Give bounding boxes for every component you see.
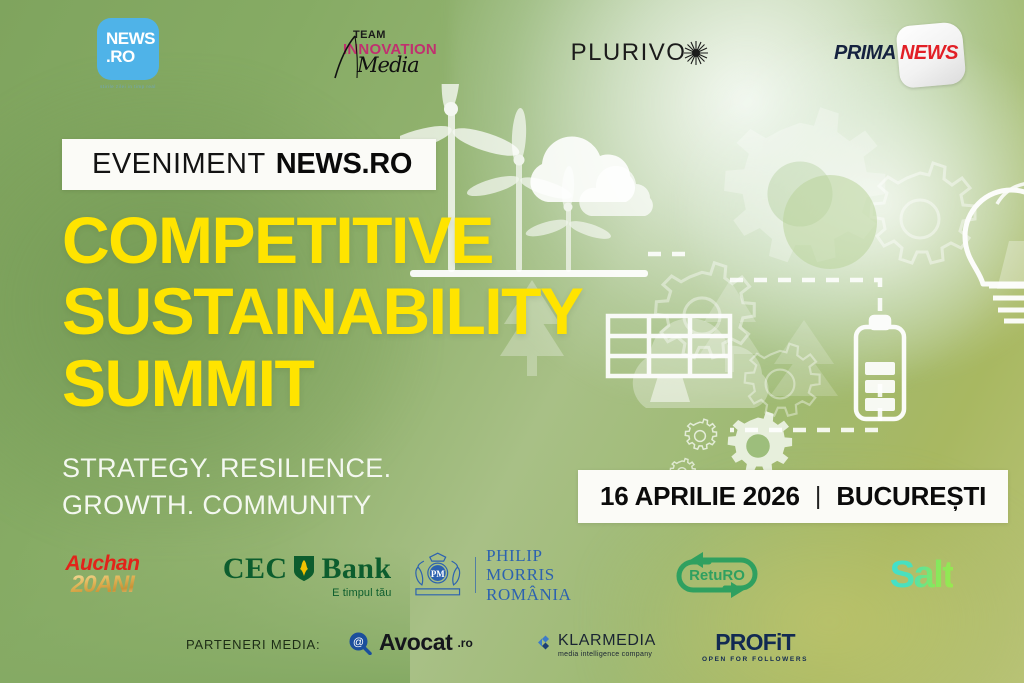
at-magnifier-icon: @	[348, 631, 372, 655]
logo-team-innovation-media[interactable]: TEAM INNOVATION Media	[256, 14, 512, 92]
auchan-anniversary: 20ANI	[65, 573, 139, 597]
profit-wordmark: PROFiT	[702, 631, 808, 654]
avocat-wordmark: Avocat	[379, 629, 452, 656]
plurivo-wordmark: PLURIVO	[571, 39, 687, 67]
eveniment-label: EVENIMENT	[92, 148, 266, 181]
date-separator: |	[815, 482, 822, 511]
tim-team-label: TEAM	[353, 30, 437, 41]
tim-swash-icon	[331, 34, 361, 80]
event-date-location-banner: 16 APRILIE 2026 | BUCUREȘTI	[578, 470, 1008, 523]
news-ro-line2: .RO	[106, 47, 135, 67]
cec-tagline: E timpul tău	[223, 587, 392, 599]
klarmedia-mark-icon	[538, 635, 553, 650]
headline-line-3: SUMMIT	[62, 348, 782, 419]
media-partners-label: PARTENERI MEDIA:	[186, 637, 320, 652]
logo-profit[interactable]: PROFiT OPEN FOR FOLLOWERS	[702, 631, 808, 663]
logo-returo[interactable]: RetuRO	[614, 540, 819, 610]
philip-morris-line2: ROMÂNIA	[486, 585, 614, 604]
svg-text:@: @	[353, 636, 364, 648]
cec-shield-icon	[293, 555, 315, 582]
eveniment-brand: NEWS.RO	[276, 148, 412, 181]
logo-auchan[interactable]: Auchan 20ANI	[0, 540, 205, 610]
sponsor-logos: Auchan 20ANI CEC Bank E timpul tău	[0, 540, 1024, 610]
page-title: COMPETITIVE SUSTAINABILITY SUMMIT	[62, 205, 782, 419]
top-partner-logos: NEWS .RO stirile zilei in timp real TEAM…	[0, 14, 1024, 92]
event-date: 16 APRILIE 2026	[600, 481, 800, 512]
logo-salt[interactable]: Salt	[819, 540, 1024, 610]
news-ro-subtitle: stirile zilei in timp real	[97, 84, 159, 89]
logo-prima-news[interactable]: PRIMA NEWS	[768, 14, 1024, 92]
media-partners-row: PARTENERI MEDIA: @ Avocat .ro KLARMEDIA …	[0, 624, 1024, 670]
news-ro-badge: NEWS .RO	[97, 18, 159, 80]
event-location: BUCUREȘTI	[836, 481, 986, 512]
avocat-suffix: .ro	[457, 636, 472, 650]
profit-tagline: OPEN FOR FOLLOWERS	[702, 656, 808, 663]
pm-monogram: PM	[430, 569, 444, 579]
klarmedia-tagline: media intelligence company	[558, 651, 656, 658]
logo-cec-bank[interactable]: CEC Bank E timpul tău	[205, 540, 410, 610]
subtitle-line-2: GROWTH. COMMUNITY	[62, 487, 492, 524]
logo-plurivo[interactable]: PLURIVO	[512, 14, 768, 92]
philip-morris-crest-icon: PM	[410, 549, 465, 601]
news-ro-line1: NEWS	[106, 30, 155, 47]
pm-divider	[475, 557, 476, 593]
subtitle-line-1: STRATEGY. RESILIENCE.	[62, 450, 492, 487]
headline-line-1: COMPETITIVE	[62, 205, 782, 276]
bank-word: Bank	[321, 552, 391, 586]
philip-morris-line1: PHILIP MORRIS	[486, 546, 614, 584]
returo-recycle-icon: RetuRO	[663, 550, 771, 600]
klarmedia-wordmark: KLARMEDIA	[558, 633, 656, 650]
tim-media-label: Media	[357, 55, 437, 76]
prima-news-label: NEWS	[900, 42, 958, 65]
logo-news-ro[interactable]: NEWS .RO stirile zilei in timp real	[0, 14, 256, 92]
eveniment-banner: EVENIMENT NEWS.RO	[62, 139, 436, 190]
logo-philip-morris-romania[interactable]: PM PHILIP MORRIS ROMÂNIA	[410, 540, 615, 610]
salt-wordmark: Salt	[890, 554, 954, 597]
logo-klarmedia[interactable]: KLARMEDIA media intelligence company	[538, 633, 656, 658]
plurivo-burst-icon	[683, 40, 709, 66]
event-poster: NEWS .RO stirile zilei in timp real TEAM…	[0, 0, 1024, 683]
headline-line-2: SUSTAINABILITY	[62, 276, 782, 347]
returo-wordmark: RetuRO	[689, 567, 745, 584]
page-subtitle: STRATEGY. RESILIENCE. GROWTH. COMMUNITY	[62, 450, 492, 525]
prima-label: PRIMA	[834, 42, 896, 65]
logo-avocat-ro[interactable]: @ Avocat .ro	[348, 629, 473, 656]
cec-word: CEC	[223, 552, 288, 586]
